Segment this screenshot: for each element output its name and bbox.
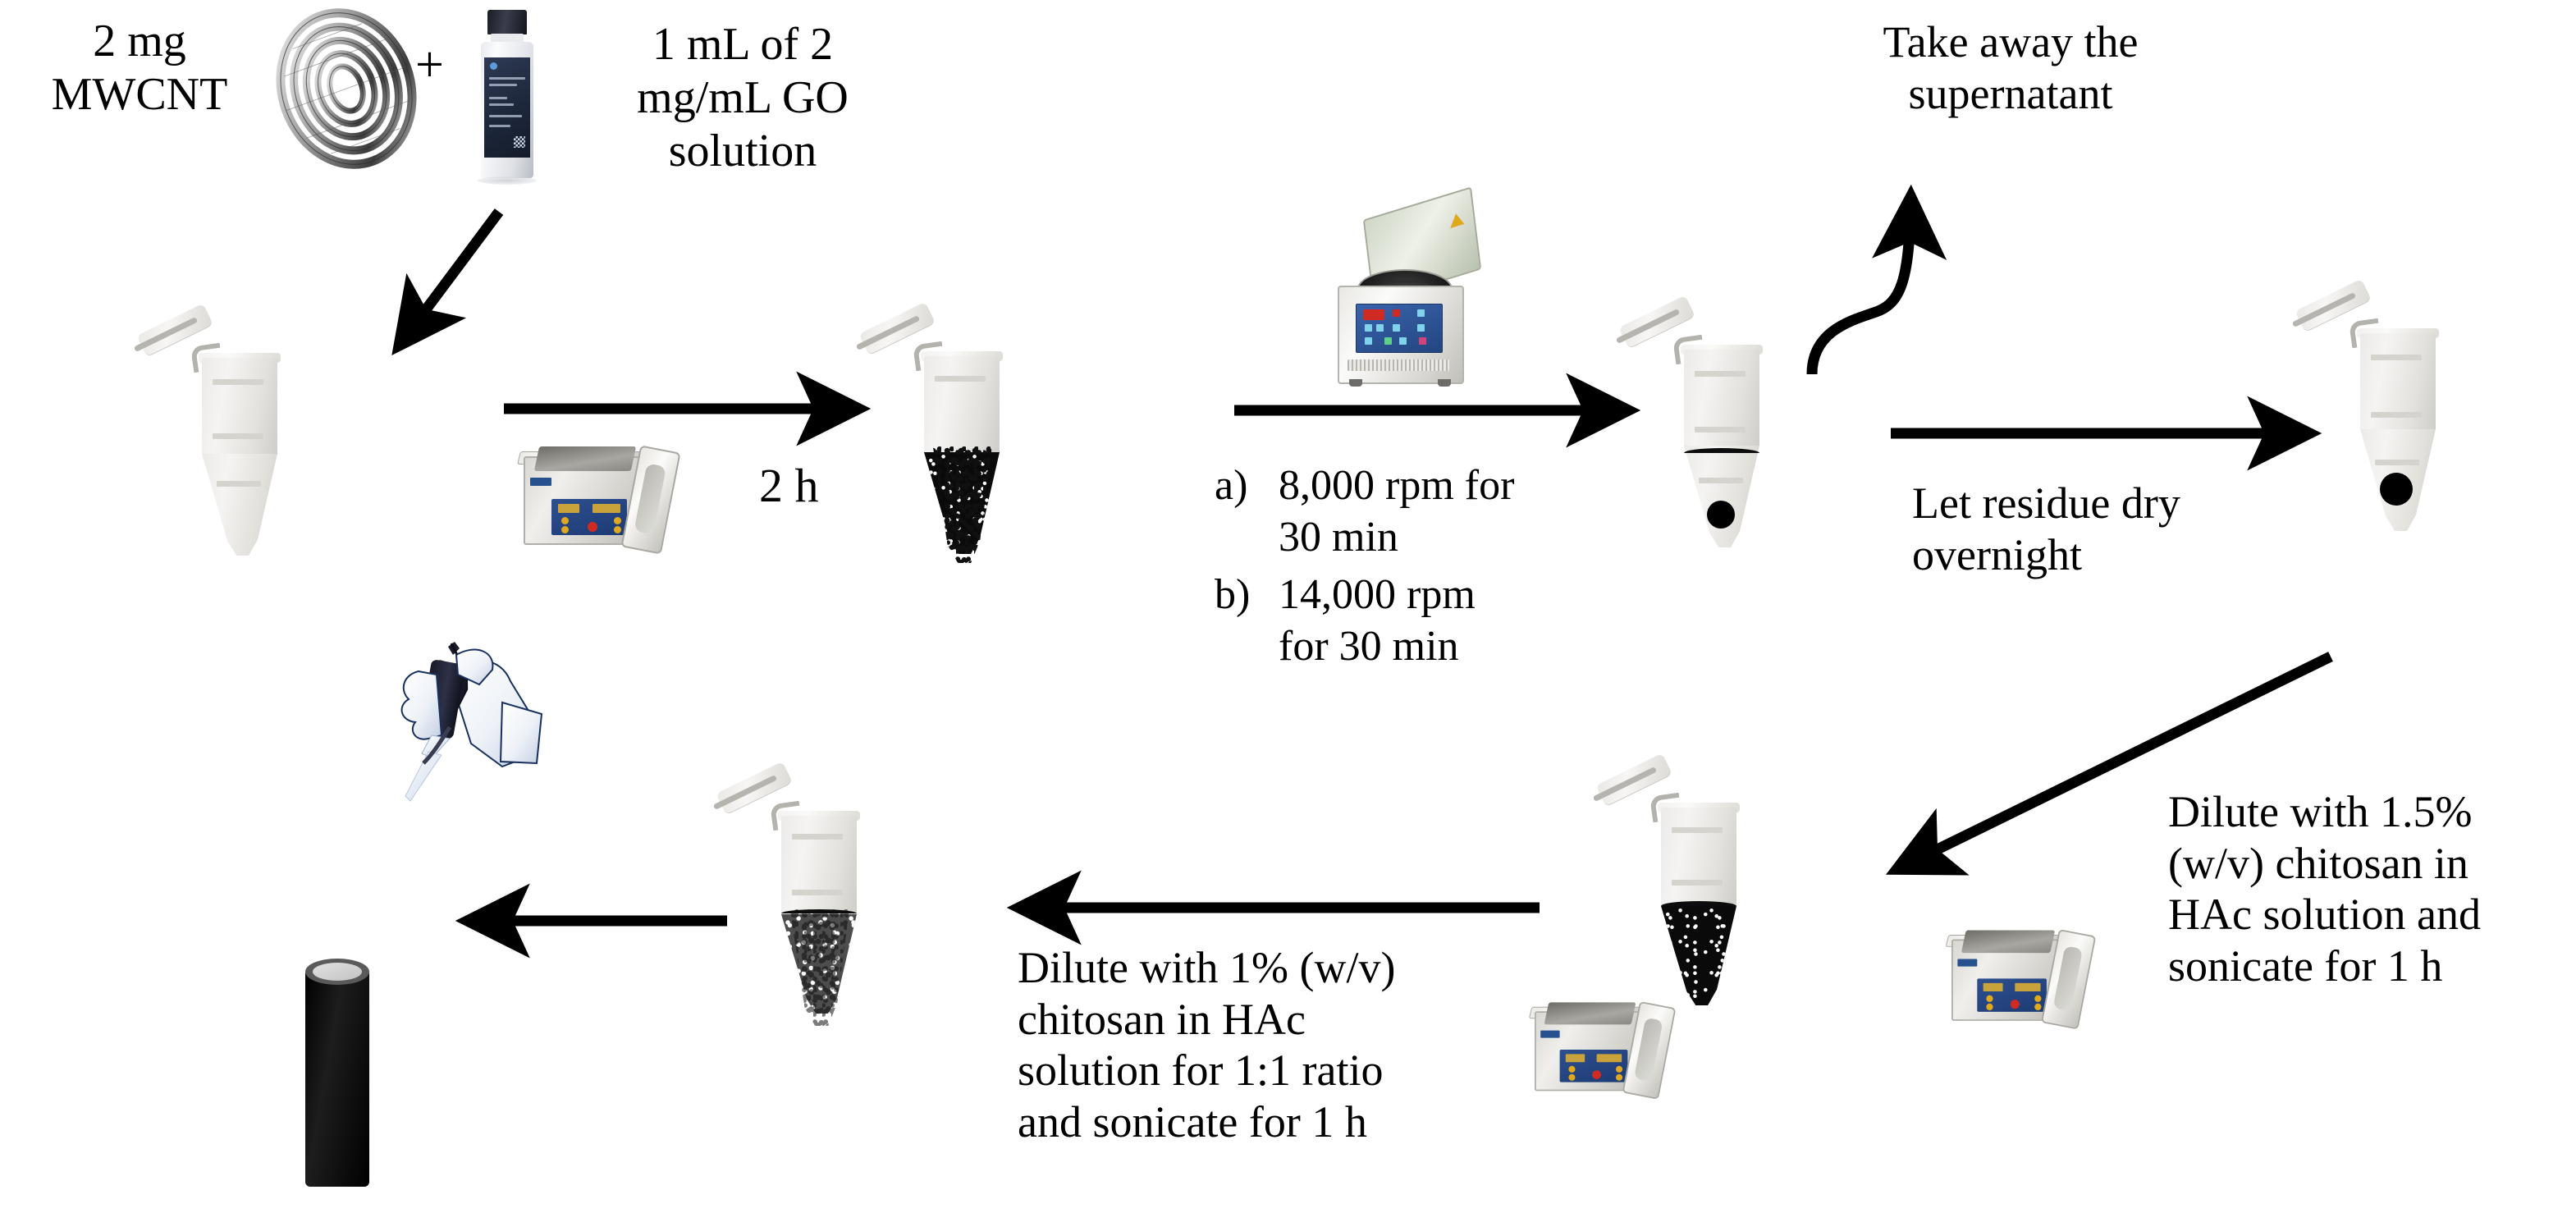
arrow-let-dry bbox=[1887, 419, 2331, 451]
centrifuge-step-b-text: 14,000 rpm for 30 min bbox=[1279, 569, 1476, 673]
sonicator-bath-icon-1 bbox=[524, 442, 671, 556]
arrow-bottom-right-to-left bbox=[1018, 893, 1576, 926]
sonicator-bath-icon-2 bbox=[1535, 998, 1668, 1101]
arrow-centrifuge bbox=[1231, 396, 1649, 428]
tube-empty bbox=[174, 336, 305, 583]
centrifuge-icon bbox=[1329, 207, 1485, 396]
centrifuge-step-b-marker: b) bbox=[1215, 569, 1279, 673]
tube-dry-pellet bbox=[2332, 312, 2472, 566]
mwcnt-coil-icon bbox=[264, 7, 428, 171]
workflow-diagram: 2 mg MWCNT bbox=[0, 0, 2576, 1222]
sonicator-bath-icon-3 bbox=[1951, 926, 2088, 1032]
arrow-supernatant-curve bbox=[1789, 189, 2002, 378]
mwcnt-amount-label: 2 mg MWCNT bbox=[33, 15, 246, 121]
supernatant-level-line bbox=[1684, 448, 1759, 453]
suspension-level-line bbox=[1661, 901, 1736, 906]
electrode-icon bbox=[305, 959, 376, 1205]
tube-black-dispersion bbox=[896, 335, 1027, 589]
arrow-reagents-to-tube bbox=[377, 197, 542, 369]
gloved-hand-pipette-icon bbox=[327, 638, 589, 901]
go-solution-label: 1 mL of 2 mg/mL GO solution bbox=[607, 18, 878, 178]
arrow-sonicate-2h bbox=[501, 394, 886, 427]
dilute-15-label: Dilute with 1.5% (w/v) chitosan in HAc s… bbox=[2168, 786, 2576, 992]
arrow-to-electrode bbox=[466, 906, 745, 939]
centrifuge-step-a-marker: a) bbox=[1215, 460, 1279, 564]
take-supernatant-label: Take away the supernatant bbox=[1797, 16, 2224, 119]
plus-symbol: + bbox=[415, 36, 444, 95]
tube-pellet-liquid bbox=[1656, 328, 1796, 583]
dry-pellet-dot bbox=[2380, 473, 2413, 506]
go-bottle-icon bbox=[474, 10, 542, 186]
tube-gray-suspension bbox=[753, 794, 893, 1057]
let-dry-label: Let residue dry overnight bbox=[1912, 478, 2339, 580]
centrifuge-step-a-text: 8,000 rpm for 30 min bbox=[1279, 460, 1514, 564]
pellet-dot bbox=[1707, 501, 1735, 529]
black-suspension-fill bbox=[1661, 906, 1736, 1005]
centrifuge-steps-list: a) 8,000 rpm for 30 min b) 14,000 rpm fo… bbox=[1215, 460, 1674, 673]
sonication-time-label: 2 h bbox=[759, 458, 819, 513]
dilute-1-label: Dilute with 1% (w/v) chitosan in HAc sol… bbox=[1018, 942, 1543, 1148]
